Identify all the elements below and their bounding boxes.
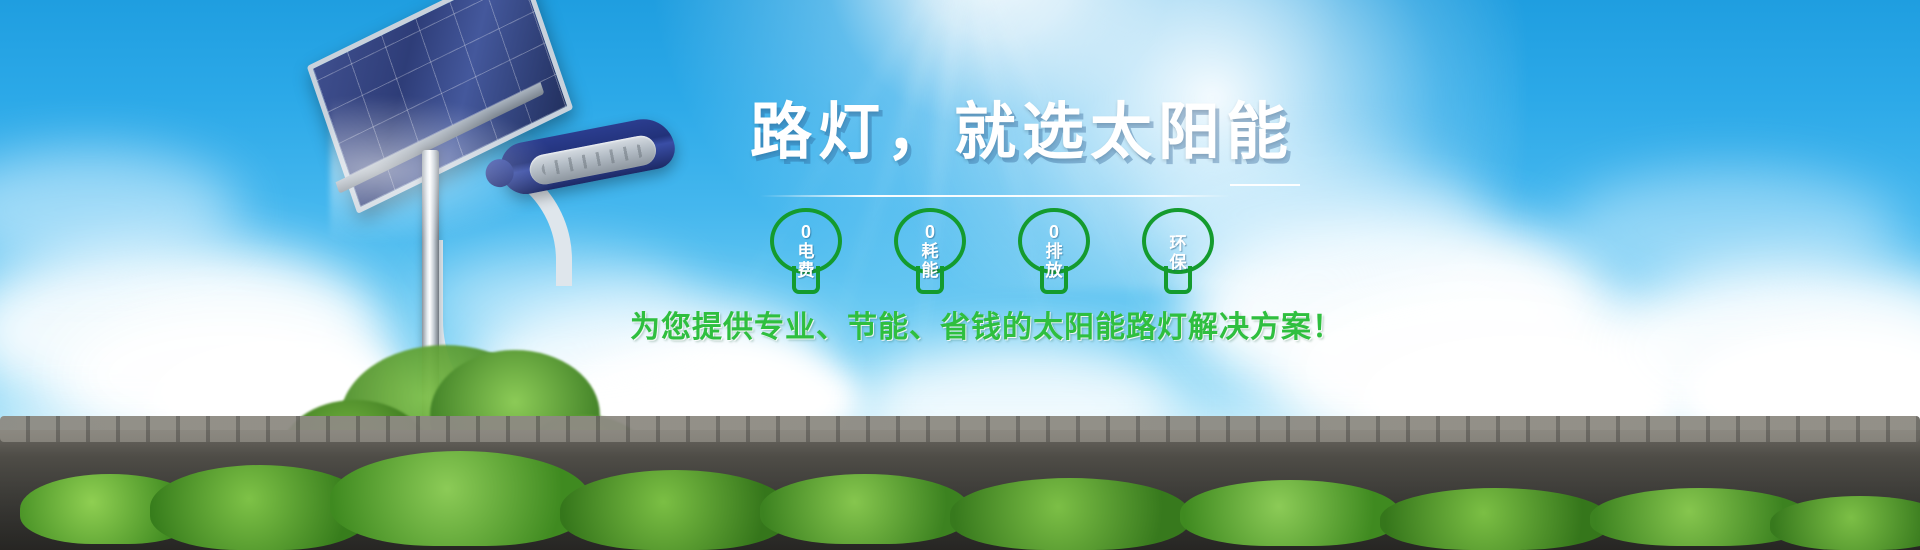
badge-line2: 保 — [1170, 253, 1187, 272]
badge-zero: 0 — [922, 223, 939, 242]
badge-zero: 0 — [798, 223, 815, 242]
page-title: 路灯，就选太阳能 — [750, 102, 1294, 164]
badge-text: 0 电 费 — [798, 223, 815, 280]
feature-badge: 0 排 放 — [1018, 208, 1090, 294]
feature-badge-list: 0 电 费 0 耗 能 0 排 放 — [770, 208, 1214, 294]
feature-badge: 环 保 — [1142, 208, 1214, 294]
badge-line1: 排 — [1046, 242, 1063, 261]
divider-line — [760, 195, 1230, 197]
badge-zero: 0 — [1046, 223, 1063, 242]
badge-text: 0 排 放 — [1046, 223, 1063, 280]
badge-line2: 能 — [922, 261, 939, 280]
badge-text: 环 保 — [1170, 230, 1187, 272]
badge-line2: 费 — [798, 261, 815, 280]
lamp-glow — [330, 95, 560, 245]
divider-line-short — [1230, 184, 1300, 186]
badge-line1: 电 — [798, 242, 815, 261]
copy-block: 路灯，就选太阳能 0 电 费 0 耗 能 — [610, 80, 1250, 340]
hero-banner: 路灯，就选太阳能 0 电 费 0 耗 能 — [0, 0, 1920, 550]
page-subtitle: 为您提供专业、节能、省钱的太阳能路灯解决方案！ — [630, 302, 1343, 346]
badge-line2: 放 — [1046, 261, 1063, 280]
badge-line1: 环 — [1170, 234, 1187, 253]
badge-line1: 耗 — [922, 242, 939, 261]
vine-layer — [0, 420, 1920, 550]
feature-badge: 0 耗 能 — [894, 208, 966, 294]
feature-badge: 0 电 费 — [770, 208, 842, 294]
badge-text: 0 耗 能 — [922, 223, 939, 280]
